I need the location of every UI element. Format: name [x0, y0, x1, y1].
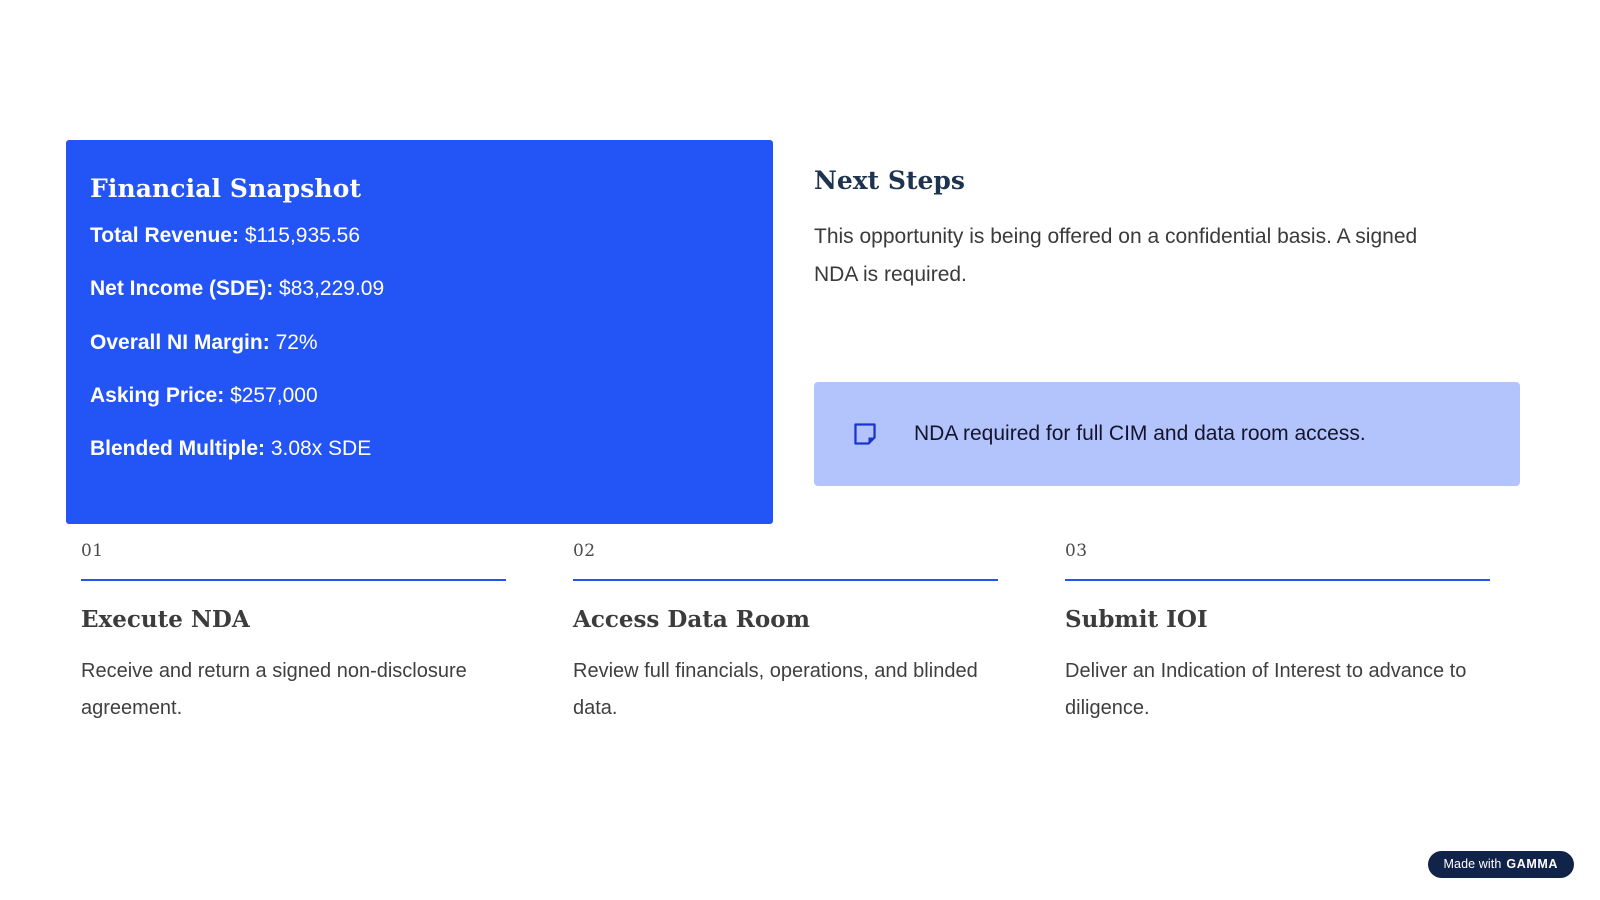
next-steps-title: Next Steps [814, 166, 1520, 196]
step-description: Deliver an Indication of Interest to adv… [1065, 653, 1490, 727]
step-description: Review full financials, operations, and … [573, 653, 998, 727]
metric-row: Overall NI Margin: 72% [90, 329, 737, 357]
made-with-gamma-badge[interactable]: Made with GAMMA [1428, 851, 1574, 878]
nda-callout-text: NDA required for full CIM and data room … [914, 419, 1366, 448]
step-divider [1065, 579, 1490, 581]
next-steps-column: Next Steps This opportunity is being off… [814, 140, 1520, 524]
financial-snapshot-title: Financial Snapshot [90, 174, 737, 204]
metric-row: Asking Price: $257,000 [90, 382, 737, 410]
metric-value: $83,229.09 [279, 277, 384, 300]
nda-callout-box: NDA required for full CIM and data room … [814, 382, 1520, 486]
financial-snapshot-card: Financial Snapshot Total Revenue: $115,9… [66, 140, 773, 524]
step-title: Submit IOI [1065, 606, 1490, 635]
step-title: Access Data Room [573, 606, 998, 635]
step-description: Receive and return a signed non-disclosu… [81, 653, 506, 727]
metric-value: 72% [276, 331, 318, 354]
metric-label: Total Revenue: [90, 224, 239, 247]
metric-label: Overall NI Margin: [90, 331, 270, 354]
top-section: Financial Snapshot Total Revenue: $115,9… [66, 140, 1520, 524]
metric-label: Asking Price: [90, 384, 224, 407]
step-column-2: 02 Access Data Room Review full financia… [573, 543, 1065, 727]
metric-value: $115,935.56 [245, 224, 360, 247]
badge-brand-label: GAMMA [1506, 858, 1558, 871]
metric-label: Net Income (SDE): [90, 277, 273, 300]
step-column-1: 01 Execute NDA Receive and return a sign… [81, 543, 573, 727]
step-number: 03 [1065, 543, 1490, 579]
metric-row: Blended Multiple: 3.08x SDE [90, 435, 737, 463]
metric-value: $257,000 [230, 384, 318, 407]
step-divider [81, 579, 506, 581]
step-column-3: 03 Submit IOI Deliver an Indication of I… [1065, 543, 1490, 727]
metric-row: Total Revenue: $115,935.56 [90, 222, 737, 250]
badge-prefix-label: Made with [1444, 858, 1502, 871]
metric-label: Blended Multiple: [90, 437, 265, 460]
step-title: Execute NDA [81, 606, 506, 635]
slide-canvas: Financial Snapshot Total Revenue: $115,9… [0, 0, 1600, 900]
next-steps-body: This opportunity is being offered on a c… [814, 218, 1439, 294]
step-number: 02 [573, 543, 998, 579]
metric-value: 3.08x SDE [271, 437, 371, 460]
step-number: 01 [81, 543, 506, 579]
sticky-note-icon [852, 421, 878, 447]
step-divider [573, 579, 998, 581]
metric-row: Net Income (SDE): $83,229.09 [90, 275, 737, 303]
steps-section: 01 Execute NDA Receive and return a sign… [81, 543, 1490, 727]
